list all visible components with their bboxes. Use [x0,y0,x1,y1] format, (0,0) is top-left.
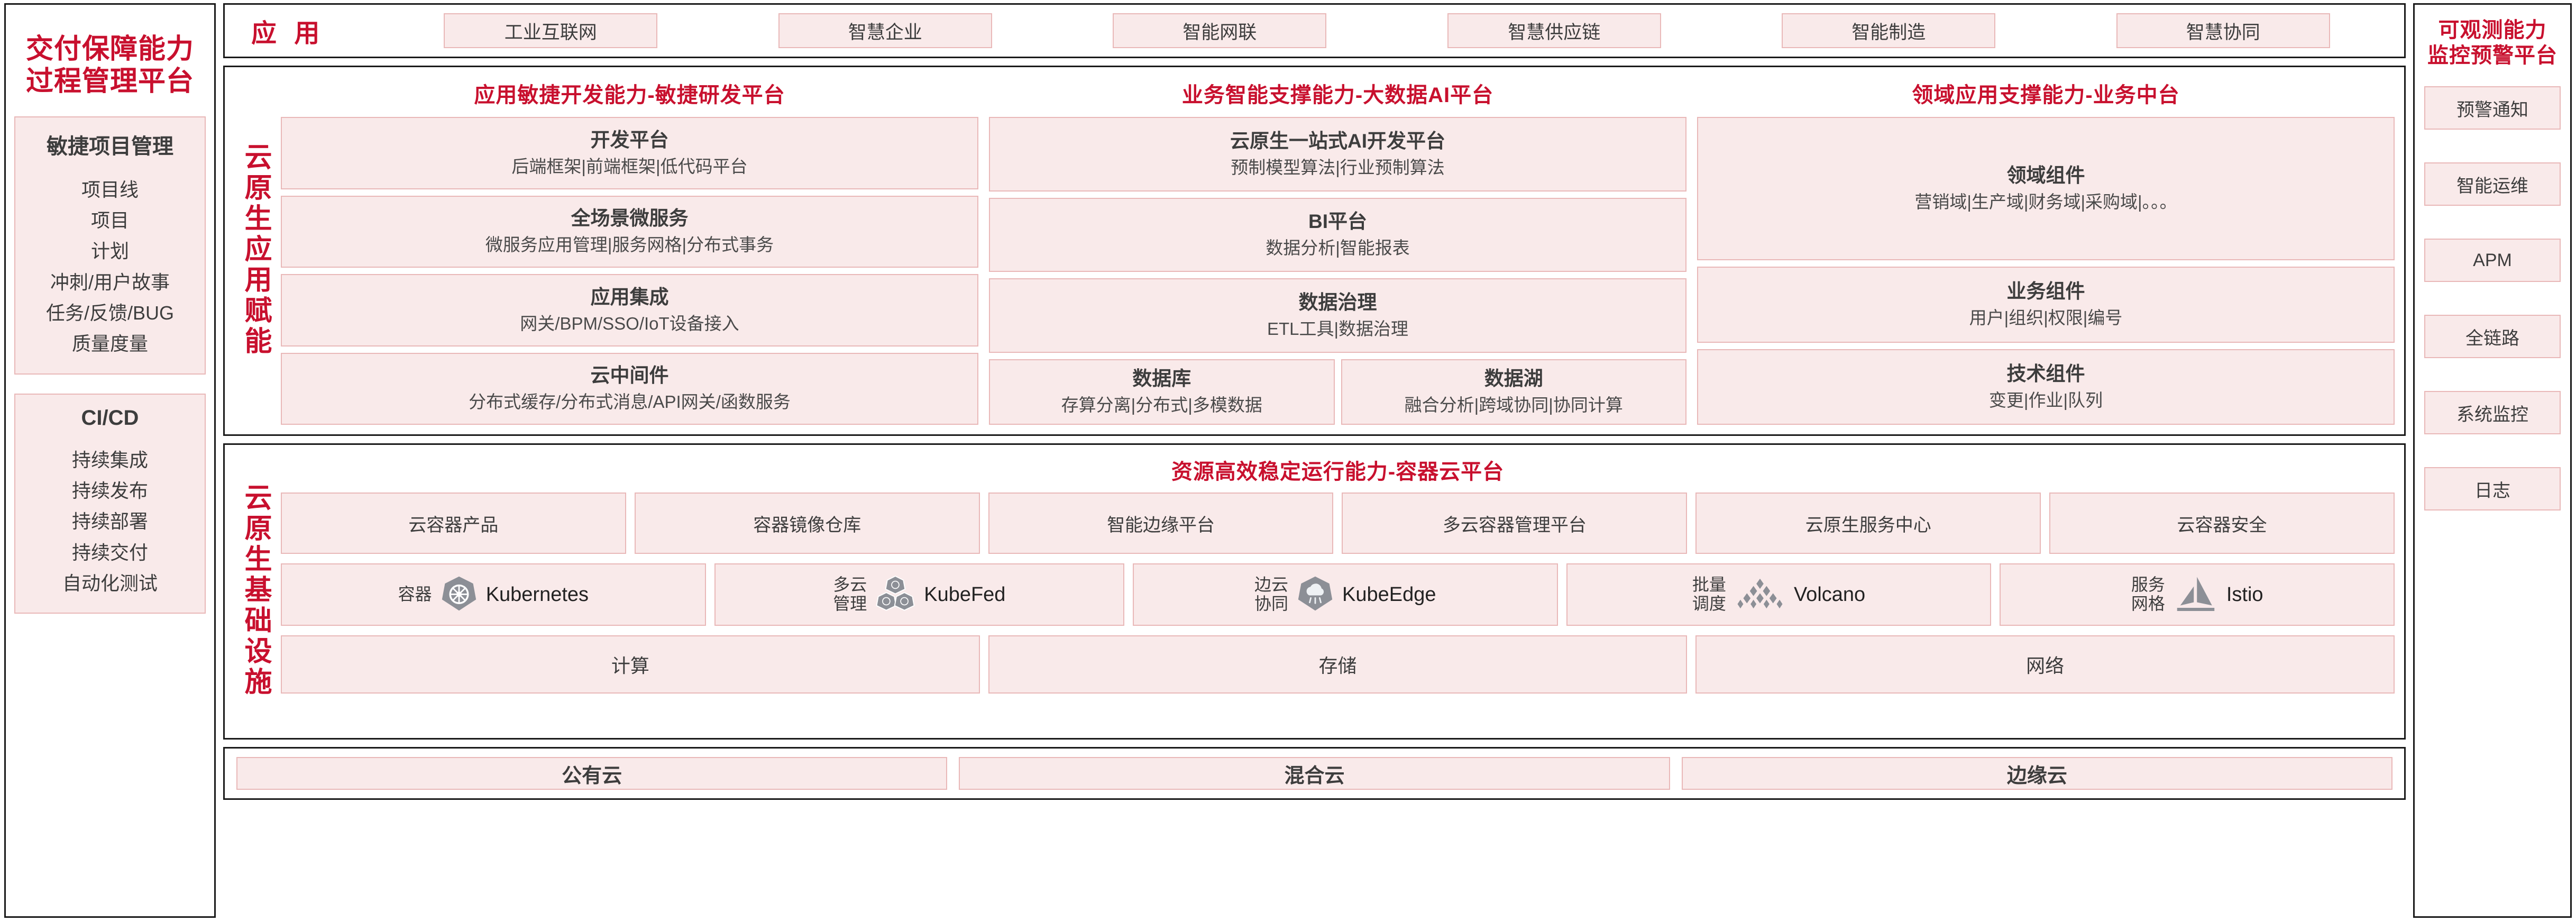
cloud-deployment-row: 公有云 混合云 边缘云 [223,747,2406,800]
cell-detail: 分布式缓存/分布式消息/API网关/函数服务 [469,391,791,414]
app-tag[interactable]: 工业互联网 [444,13,657,48]
business-midend-group: 领域应用支撑能力-业务中台 领域组件 营销域|生产域|财务域|采购域|。。。 业… [1697,75,2395,425]
list-item: 持续集成 [72,445,148,476]
cell-detail: 融合分析|跨域协同|协同计算 [1405,394,1623,417]
list-item: 计划 [91,236,129,267]
app-tag[interactable]: 智慧企业 [778,13,992,48]
group-body: 领域组件 营销域|生产域|财务域|采购域|。。。 业务组件 用户|组织|权限|编… [1697,117,2395,425]
left-sidebar-title: 交付保障能力 过程管理平台 [14,33,206,98]
application-row-label: 应 用 [239,12,383,49]
container-product-row: 云容器产品 容器镜像仓库 智能边缘平台 多云容器管理平台 云原生服务中心 云容器… [281,493,2395,554]
cloud-native-enablement-section: 云原生应用赋能 应用敏捷开发能力-敏捷研发平台 开发平台 后端框架|前端框架|低… [223,66,2406,436]
application-tag-list: 工业互联网 智慧企业 智能网联 智慧供应链 智能制造 智慧协同 [383,13,2390,48]
cell-name: 业务组件 [2007,279,2085,304]
container-product[interactable]: 云原生服务中心 [1695,493,2041,554]
container-product[interactable]: 多云容器管理平台 [1342,493,1687,554]
capability-cell[interactable]: 应用集成 网关/BPM/SSO/IoT设备接入 [281,274,978,346]
cell-name: 应用集成 [591,285,669,309]
card-heading: CI/CD [81,406,139,430]
cell-detail: 后端框架|前端框架|低代码平台 [511,156,747,178]
capability-cell[interactable]: BI平台 数据分析|智能报表 [989,198,1686,272]
observability-item-apm[interactable]: APM [2424,239,2561,282]
container-product[interactable]: 云容器安全 [2049,493,2395,554]
split-cells: 数据库 存算分离|分布式|多模数据 数据湖 融合分析|跨域协同|协同计算 [989,359,1686,425]
card-heading: 敏捷项目管理 [47,129,173,160]
technology-tag: 容器 [398,585,432,604]
technology-name: Kubernetes [486,583,589,606]
architecture-diagram: 交付保障能力 过程管理平台 敏捷项目管理 项目线 项目 计划 冲刺/用户故事 任… [0,0,2576,921]
technology-tag: 服务 网格 [2131,576,2165,614]
cell-name: 云原生一站式AI开发平台 [1230,129,1445,153]
capability-cell[interactable]: 云原生一站式AI开发平台 预制模型算法|行业预制算法 [989,117,1686,192]
observability-item-logs[interactable]: 日志 [2424,467,2561,510]
cell-name: 技术组件 [2007,362,2085,386]
list-item: 自动化测试 [62,568,158,599]
cell-detail: 变更|作业|队列 [1989,389,2103,412]
observability-item-alert-notification[interactable]: 预警通知 [2424,86,2561,130]
capability-cell[interactable]: 全场景微服务 微服务应用管理|服务网格|分布式事务 [281,196,978,268]
technology-istio[interactable]: 服务 网格 Istio [2000,563,2395,626]
observability-item-aiops[interactable]: 智能运维 [2424,162,2561,206]
list-item: 项目 [91,205,129,236]
cell-name: 数据治理 [1299,290,1377,315]
cell-name: 云中间件 [591,363,669,388]
cell-detail: 用户|组织|权限|编号 [1969,307,2123,330]
app-tag[interactable]: 智能制造 [1782,13,1995,48]
cell-detail: 营销域|生产域|财务域|采购域|。。。 [1914,191,2177,214]
cell-name: 数据湖 [1484,367,1543,391]
technology-name: KubeEdge [1342,583,1436,606]
cloud-native-infrastructure-section: 云原生基础设施 资源高效稳定运行能力-容器云平台 云容器产品 容器镜像仓库 智能… [223,443,2406,740]
kubernetes-icon [441,575,478,615]
technology-name: KubeFed [924,583,1005,606]
infrastructure-body: 资源高效稳定运行能力-容器云平台 云容器产品 容器镜像仓库 智能边缘平台 多云容… [281,452,2395,728]
list-item: 冲刺/用户故事 [50,267,170,298]
left-sidebar: 交付保障能力 过程管理平台 敏捷项目管理 项目线 项目 计划 冲刺/用户故事 任… [4,3,216,918]
infrastructure-vertical-label: 云原生基础设施 [230,452,281,728]
technology-tag: 多云 管理 [833,576,867,614]
list-item: 项目线 [81,175,139,205]
cell-detail: 网关/BPM/SSO/IoT设备接入 [520,313,739,335]
right-sidebar: 可观测能力 监控预警平台 预警通知 智能运维 APM 全链路 系统监控 日志 [2413,3,2572,918]
resource-storage[interactable]: 存储 [988,635,1688,694]
resource-compute[interactable]: 计算 [281,635,980,694]
enablement-groups: 应用敏捷开发能力-敏捷研发平台 开发平台 后端框架|前端框架|低代码平台 全场景… [281,75,2395,425]
istio-icon [2174,575,2218,615]
technology-kubefed[interactable]: 多云 管理 [714,563,1124,626]
infrastructure-title: 资源高效稳定运行能力-容器云平台 [281,454,2395,485]
cell-detail: 微服务应用管理|服务网格|分布式事务 [485,234,774,257]
cell-name: 全场景微服务 [571,206,689,231]
group-title: 业务智能支撑能力-大数据AI平台 [989,78,1686,108]
group-title: 领域应用支撑能力-业务中台 [1697,78,2395,108]
cell-name: 数据库 [1132,367,1191,391]
capability-cell[interactable]: 云中间件 分布式缓存/分布式消息/API网关/函数服务 [281,353,978,425]
ci-cd-card: CI/CD 持续集成 持续发布 持续部署 持续交付 自动化测试 [14,394,206,614]
list-item: 质量度量 [72,329,148,359]
cell-name: 开发平台 [591,128,669,152]
volcano-icon [1735,577,1785,613]
cell-name: 领域组件 [2007,163,2085,188]
application-row: 应 用 工业互联网 智慧企业 智能网联 智慧供应链 智能制造 智慧协同 [223,3,2406,58]
group-title: 应用敏捷开发能力-敏捷研发平台 [281,78,978,108]
technology-kubernetes[interactable]: 容器 Kubern [281,563,706,626]
cell-name: BI平台 [1308,209,1367,234]
list-item: 持续交付 [72,537,148,568]
app-tag[interactable]: 智慧供应链 [1447,13,1661,48]
app-tag[interactable]: 智能网联 [1113,13,1326,48]
technology-tag: 批量 调度 [1692,576,1726,614]
big-data-ai-group: 业务智能支撑能力-大数据AI平台 云原生一站式AI开发平台 预制模型算法|行业预… [989,75,1686,425]
capability-cell[interactable]: 开发平台 后端框架|前端框架|低代码平台 [281,117,978,189]
capability-cell[interactable]: 业务组件 用户|组织|权限|编号 [1697,267,2395,343]
agile-dev-group: 应用敏捷开发能力-敏捷研发平台 开发平台 后端框架|前端框架|低代码平台 全场景… [281,75,978,425]
cell-detail: 存算分离|分布式|多模数据 [1061,394,1262,417]
technology-kubeedge[interactable]: 边云 协同 KubeEdge [1133,563,1558,626]
resource-row: 计算 存储 网络 [281,635,2395,694]
resource-network[interactable]: 网络 [1695,635,2395,694]
list-item: 持续发布 [72,476,148,506]
technology-volcano[interactable]: 批量 调度 [1566,563,1992,626]
infrastructure-vertical-label-text: 云原生基础设施 [242,483,269,698]
cloud-hybrid[interactable]: 混合云 [959,757,1670,790]
capability-cell[interactable]: 数据库 存算分离|分布式|多模数据 [989,359,1335,425]
technology-name: Volcano [1794,583,1865,606]
container-product[interactable]: 云容器产品 [281,493,626,554]
cell-detail: 数据分析|智能报表 [1266,237,1410,260]
capability-cell[interactable]: 领域组件 营销域|生产域|财务域|采购域|。。。 [1697,117,2395,260]
list-item: 任务/反馈/BUG [46,298,174,329]
technology-row: 容器 Kubern [281,563,2395,626]
cell-detail: 预制模型算法|行业预制算法 [1231,157,1445,179]
agile-project-management-card: 敏捷项目管理 项目线 项目 计划 冲刺/用户故事 任务/反馈/BUG 质量度量 [14,116,206,375]
app-tag[interactable]: 智慧协同 [2116,13,2330,48]
capability-cell[interactable]: 数据治理 ETL工具|数据治理 [989,278,1686,353]
cloud-public[interactable]: 公有云 [236,757,947,790]
group-body: 云原生一站式AI开发平台 预制模型算法|行业预制算法 BI平台 数据分析|智能报… [989,117,1686,425]
container-product[interactable]: 智能边缘平台 [988,493,1334,554]
center-column: 应 用 工业互联网 智慧企业 智能网联 智慧供应链 智能制造 智慧协同 云原生应… [223,3,2406,918]
container-product[interactable]: 容器镜像仓库 [635,493,980,554]
enablement-vertical-label: 云原生应用赋能 [230,75,281,425]
capability-cell[interactable]: 技术组件 变更|作业|队列 [1697,349,2395,425]
right-sidebar-title: 可观测能力 监控预警平台 [2427,17,2557,68]
technology-name: Istio [2226,583,2263,606]
cloud-edge[interactable]: 边缘云 [1682,757,2392,790]
group-body: 开发平台 后端框架|前端框架|低代码平台 全场景微服务 微服务应用管理|服务网格… [281,117,978,425]
cell-detail: ETL工具|数据治理 [1267,318,1408,341]
kubefed-icon [875,575,915,615]
technology-tag: 边云 协同 [1254,576,1288,614]
enablement-vertical-label-text: 云原生应用赋能 [242,142,269,357]
list-item: 持续部署 [72,506,148,537]
kubeedge-icon [1297,575,1334,615]
observability-item-full-link-trace[interactable]: 全链路 [2424,315,2561,358]
capability-cell[interactable]: 数据湖 融合分析|跨域协同|协同计算 [1341,359,1687,425]
observability-item-system-monitoring[interactable]: 系统监控 [2424,391,2561,434]
